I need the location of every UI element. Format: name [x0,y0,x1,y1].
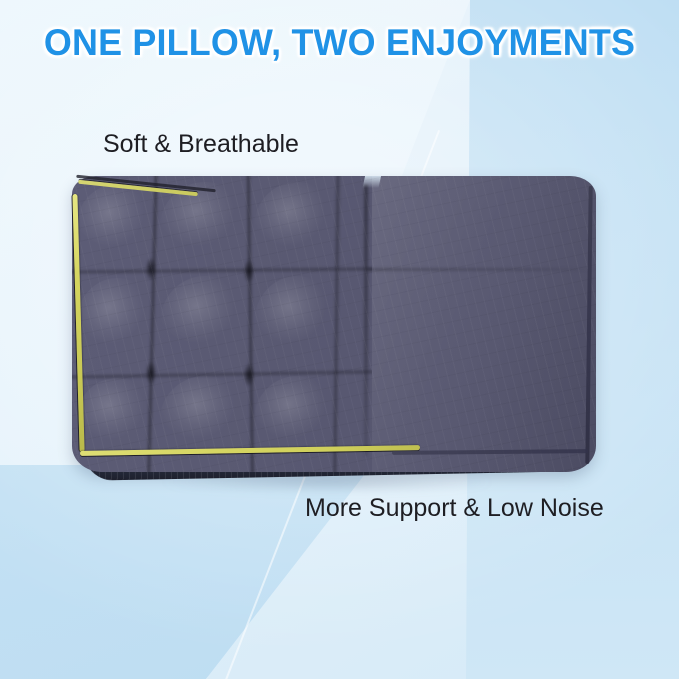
quilt-puff [254,376,340,464]
quilt-seam-vertical [146,176,159,472]
quilt-puff [254,276,340,370]
product-pillow [72,176,596,488]
pillow-right-horizontal-seam [368,268,596,271]
page-title: ONE PILLOW, TWO ENJOYMENTS [10,22,669,64]
pillow-top-notch [363,176,382,188]
pillow-center-seam [364,184,368,456]
quilt-puff [160,376,250,464]
callout-soft-breathable: Soft & Breathable [103,130,299,159]
quilt-seam-vertical [332,176,340,472]
quilt-tuft-point [242,256,256,286]
quilt-tuft-point [242,360,256,390]
quilt-puff [76,378,158,464]
quilt-tuft-point [144,254,158,284]
quilt-seam-horizontal [72,266,372,274]
pillow-smooth-right-side [372,176,596,472]
quilt-seam-vertical [246,176,255,472]
callout-more-support-low-noise: More Support & Low Noise [305,494,604,523]
quilt-seam-horizontal [72,369,372,379]
pillow-quilted-left-side [72,176,372,472]
quilt-puff [76,278,158,370]
quilt-puff [160,276,250,370]
image-canvas: ONE PILLOW, TWO ENJOYMENTS Soft & Breath… [0,0,679,679]
pillow-body [72,176,596,472]
quilt-puff [160,182,250,272]
quilt-tuft-point [144,358,158,388]
quilt-puff [254,182,340,272]
